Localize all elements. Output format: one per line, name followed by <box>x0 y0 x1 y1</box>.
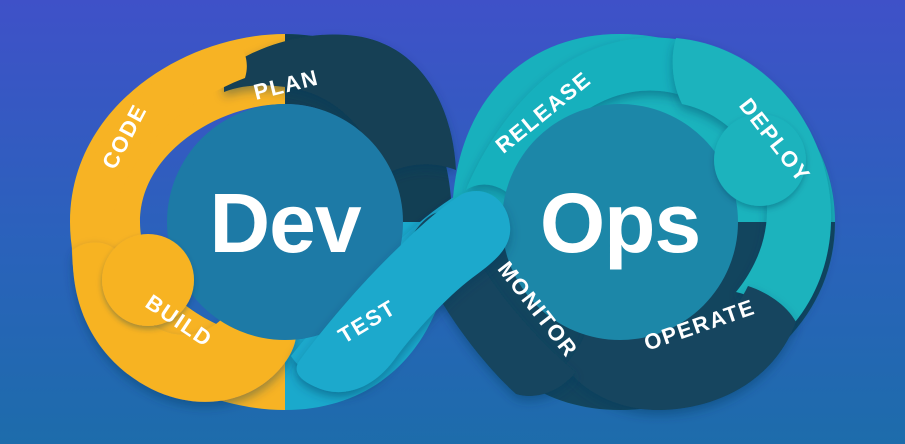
dev-lobe-label: Dev <box>209 176 361 270</box>
ops-lobe-label: Ops <box>540 176 700 270</box>
devops-diagram: Dev Ops <box>0 0 905 444</box>
devops-infinity-loop-svg: Dev Ops <box>0 0 905 444</box>
